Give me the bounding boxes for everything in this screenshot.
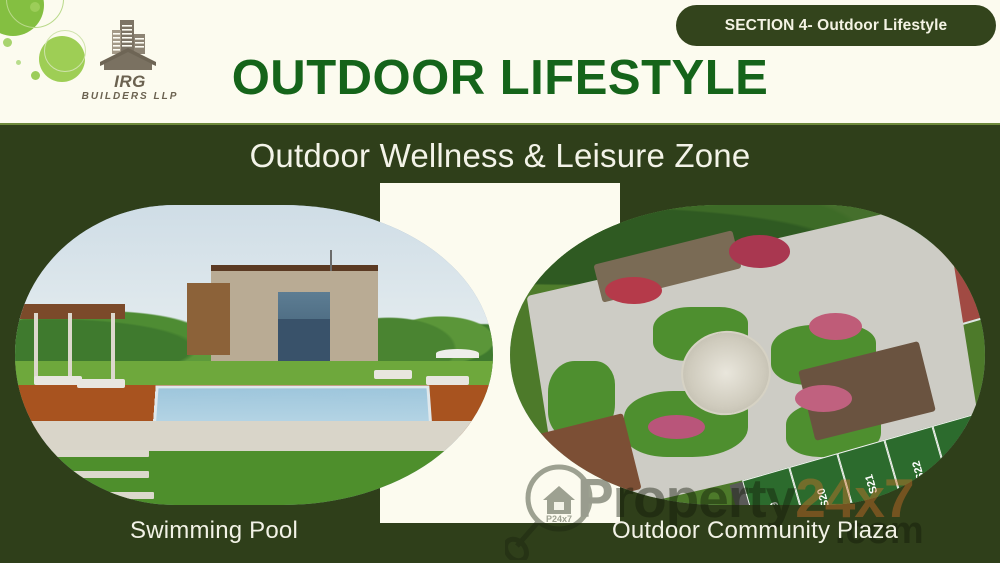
plot-label: S22	[910, 459, 927, 481]
swimming-pool-render	[15, 205, 493, 505]
caption-community-plaza: Outdoor Community Plaza	[612, 517, 898, 545]
plot-label: S23	[958, 446, 975, 468]
sun-lounger	[426, 376, 469, 385]
sun-lounger	[34, 376, 82, 385]
patio-umbrella	[436, 349, 479, 358]
image-card-community-plaza[interactable]: S19 S20 S21 S22 S23	[510, 205, 985, 505]
pergola-post	[34, 313, 38, 379]
decor-circle-2	[30, 2, 40, 12]
garden-step	[34, 471, 149, 478]
image-card-swimming-pool[interactable]	[15, 205, 493, 505]
section-badge[interactable]: SECTION 4- Outdoor Lifestyle	[676, 5, 996, 46]
sun-lounger	[374, 370, 412, 379]
slide-header: IRG BUILDERS LLP SECTION 4- Outdoor Life…	[0, 0, 1000, 125]
flower-bed	[729, 235, 791, 268]
roof-antenna	[330, 250, 332, 271]
flower-bed	[795, 385, 852, 412]
building-wood-screen	[187, 283, 230, 355]
building-entrance	[278, 319, 331, 361]
page-subtitle: Outdoor Wellness & Leisure Zone	[0, 125, 1000, 187]
plot-label: S20	[815, 487, 832, 505]
pergola-post	[111, 313, 115, 379]
flower-bed	[605, 277, 662, 304]
flower-bed	[809, 313, 861, 340]
slide-root: IRG BUILDERS LLP SECTION 4- Outdoor Life…	[0, 0, 1000, 563]
decor-circle-3	[3, 38, 12, 47]
garden-step	[48, 492, 153, 499]
garden-step	[25, 450, 149, 457]
sun-lounger	[77, 379, 125, 388]
pergola-post	[68, 313, 72, 379]
caption-band: Swimming Pool Outdoor Community Plaza	[0, 505, 1000, 563]
page-title: OUTDOOR LIFESTYLE	[0, 52, 1000, 104]
caption-swimming-pool: Swimming Pool	[130, 517, 298, 545]
community-plaza-aerial-render: S19 S20 S21 S22 S23	[510, 205, 985, 505]
flower-bed	[648, 415, 705, 439]
plot-label: S21	[863, 473, 880, 495]
